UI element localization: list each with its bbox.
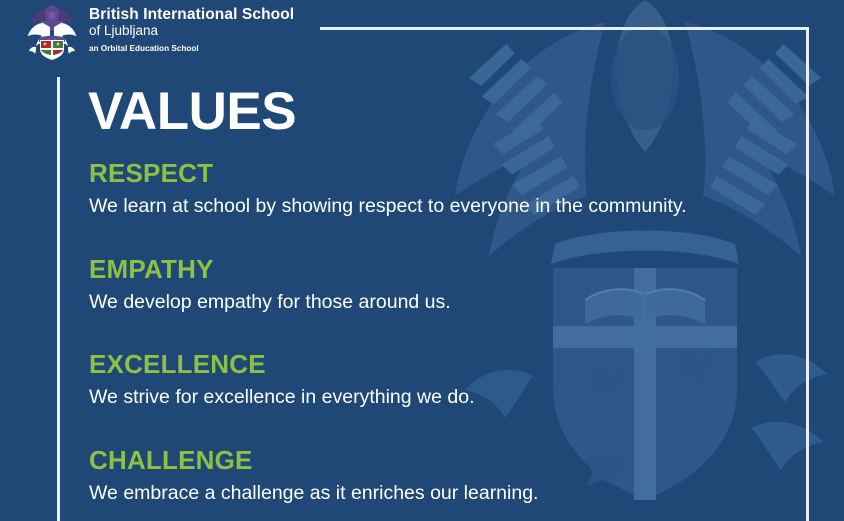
value-heading: EMPATHY <box>89 254 451 284</box>
school-crest-icon <box>24 3 80 61</box>
logo-text-block: British International School of Ljubljan… <box>89 3 294 56</box>
value-heading: EXCELLENCE <box>89 349 475 379</box>
value-item-challenge: CHALLENGE We embrace a challenge as it e… <box>89 445 538 505</box>
value-item-respect: RESPECT We learn at school by showing re… <box>89 158 687 218</box>
logo-location: of Ljubljana <box>89 23 294 39</box>
page-title: VALUES <box>88 83 296 141</box>
value-item-empathy: EMPATHY We develop empathy for those aro… <box>89 254 451 314</box>
school-logo: British International School of Ljubljan… <box>24 3 294 61</box>
frame-top-line <box>320 27 809 30</box>
frame-right-line <box>806 27 809 521</box>
frame-left-line <box>57 77 60 521</box>
value-description: We embrace a challenge as it enriches ou… <box>89 481 538 505</box>
value-heading: RESPECT <box>89 158 687 188</box>
value-description: We strive for excellence in everything w… <box>89 385 475 409</box>
logo-school-name: British International School <box>89 6 294 23</box>
logo-tagline: an Orbital Education School <box>89 42 294 56</box>
values-slide: British International School of Ljubljan… <box>0 0 844 521</box>
value-item-excellence: EXCELLENCE We strive for excellence in e… <box>89 349 475 409</box>
value-description: We develop empathy for those around us. <box>89 290 451 314</box>
crest-watermark-icon <box>435 0 844 521</box>
value-description: We learn at school by showing respect to… <box>89 194 687 218</box>
value-heading: CHALLENGE <box>89 445 538 475</box>
